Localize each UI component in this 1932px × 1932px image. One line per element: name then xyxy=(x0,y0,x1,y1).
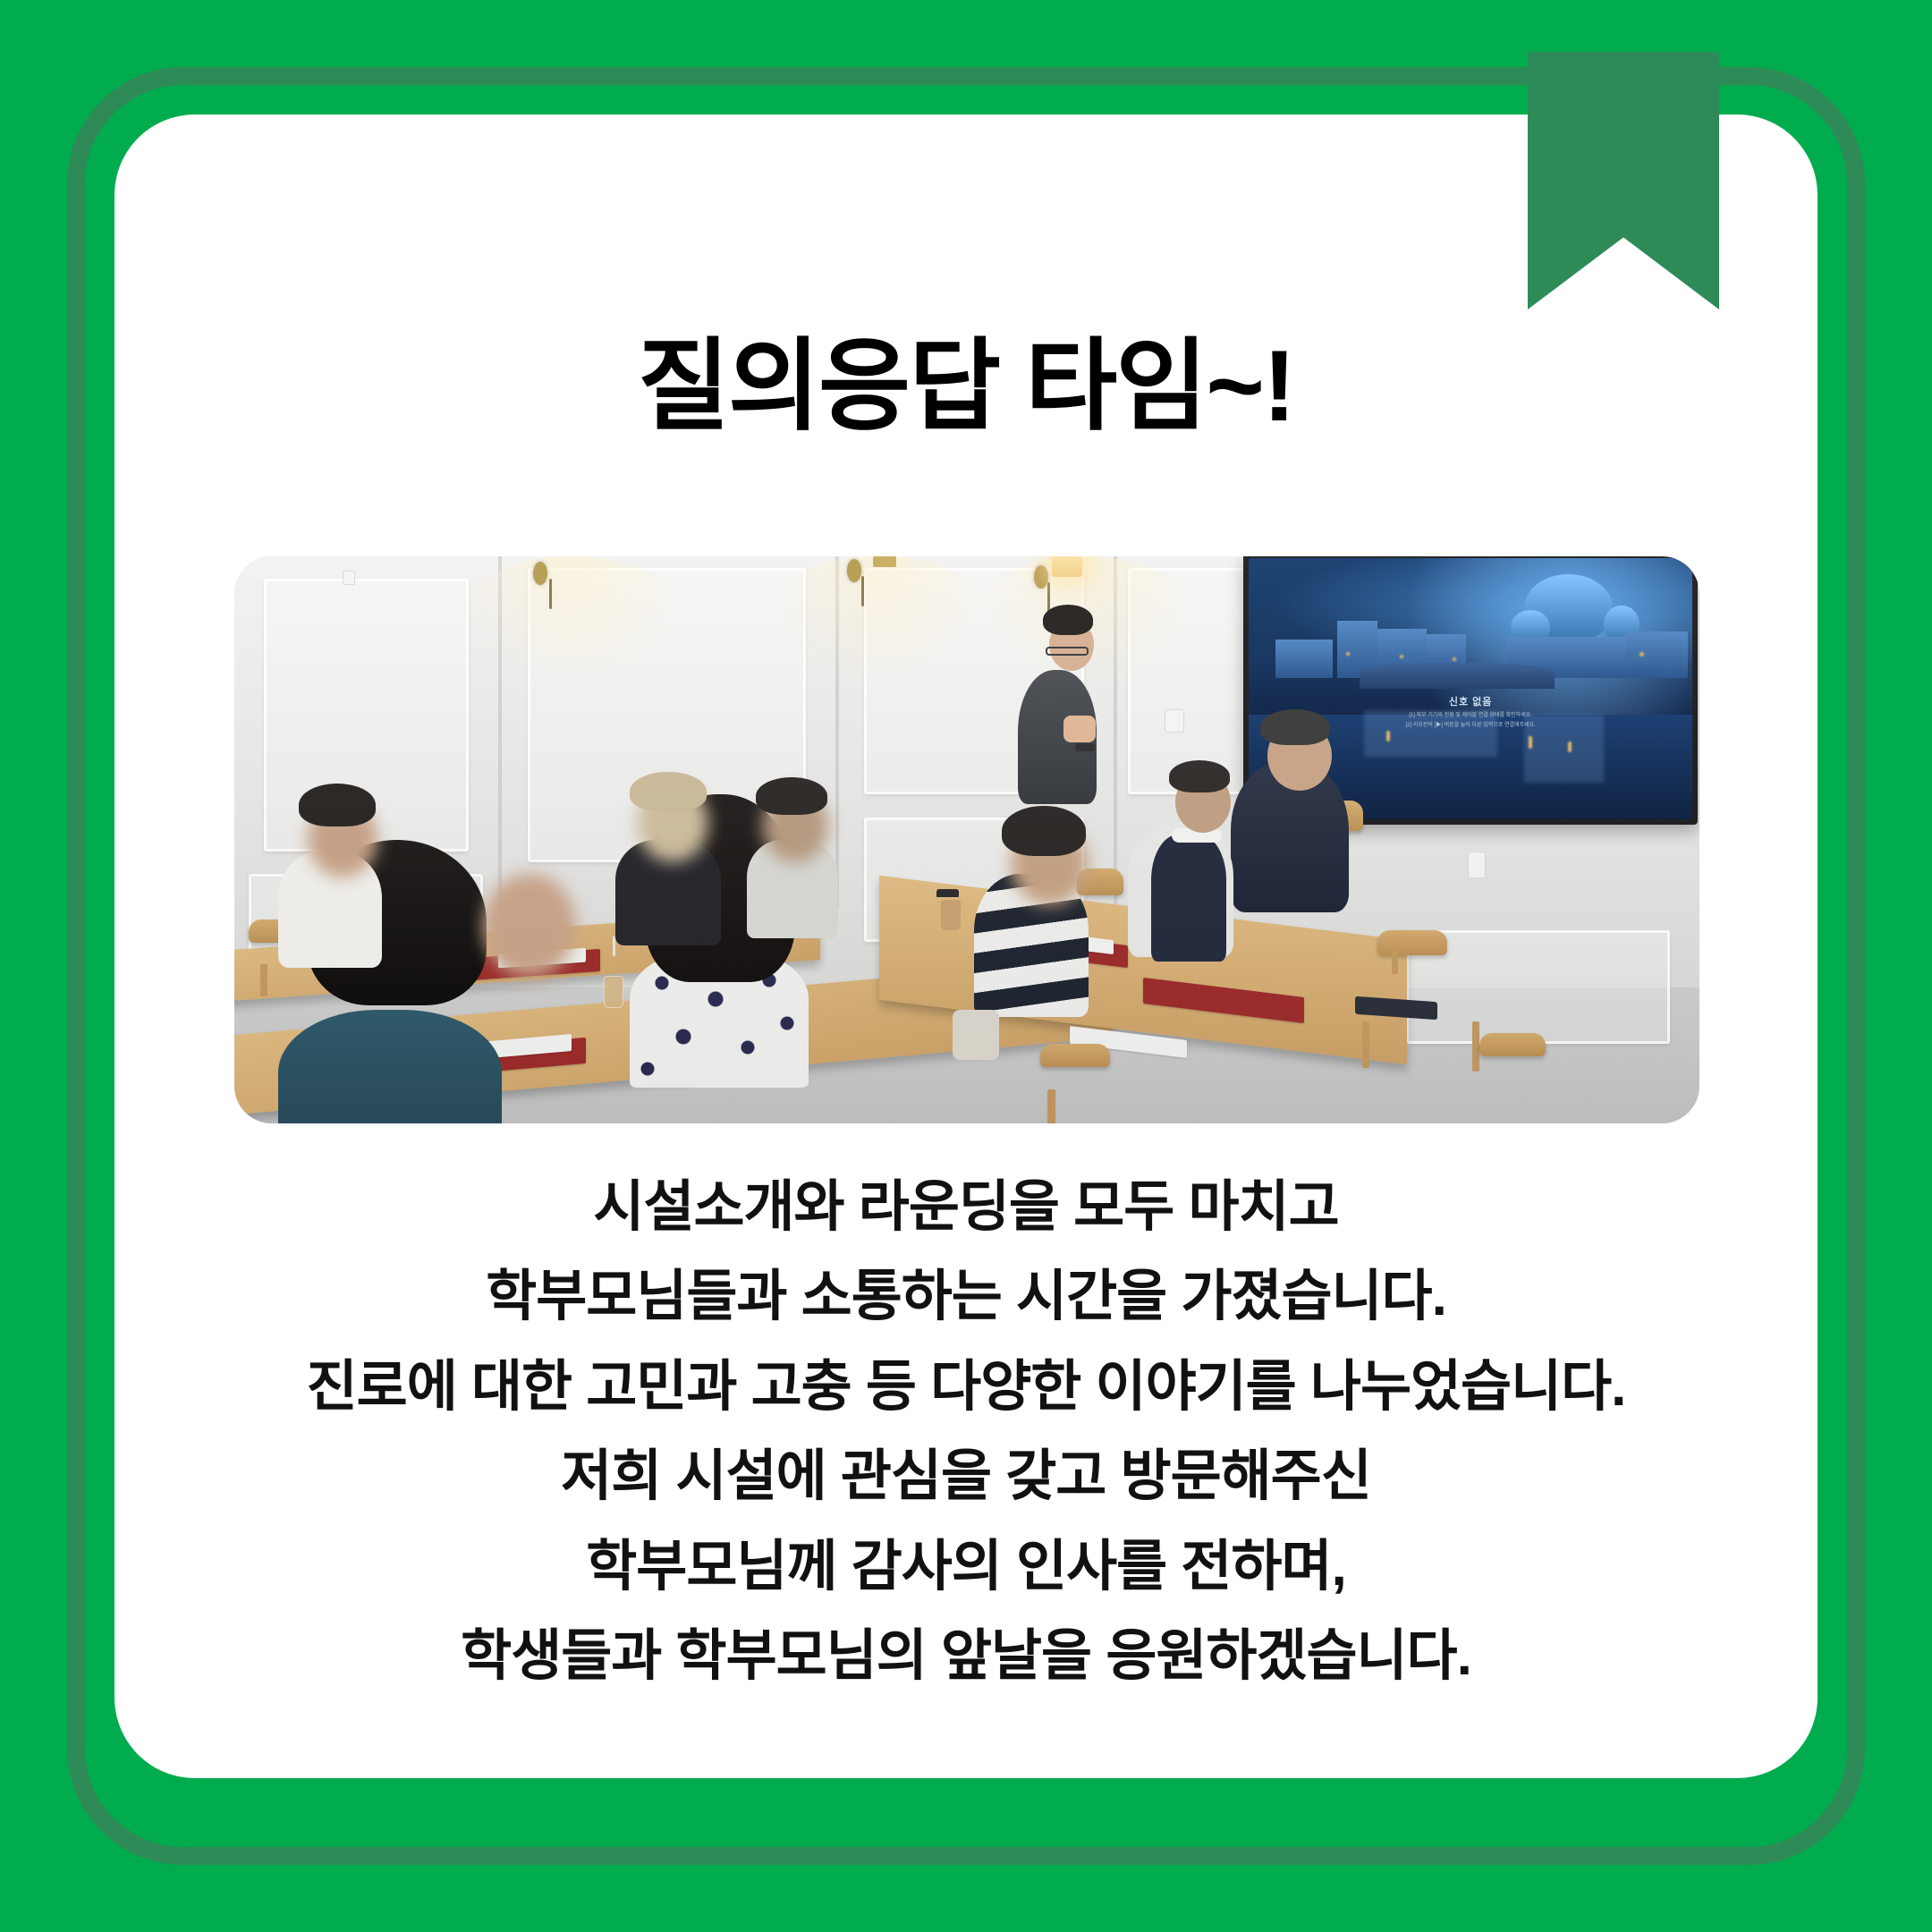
event-photo: 신호 없음 [1] 외부 기기의 전원 및 케이블 연결 상태를 확인하세요. … xyxy=(234,556,1699,1123)
body-line: 학부모님들과 소통하는 시간을 가졌습니다. xyxy=(114,1252,1818,1342)
body-line: 학부모님께 감사의 인사를 전하며, xyxy=(114,1522,1818,1612)
body-line: 학생들과 학부모님의 앞날을 응원하겠습니다. xyxy=(114,1612,1818,1701)
body-line: 저희 시설에 관심을 갖고 방문해주신 xyxy=(114,1432,1818,1521)
body-paragraph: 시설소개와 라운딩을 모두 마치고 학부모님들과 소통하는 시간을 가졌습니다.… xyxy=(114,1163,1818,1702)
body-line: 진로에 대한 고민과 고충 등 다양한 이야기를 나누었습니다. xyxy=(114,1343,1818,1432)
body-line: 시설소개와 라운딩을 모두 마치고 xyxy=(114,1163,1818,1252)
poster-canvas: 질의응답 타임~! xyxy=(0,0,1932,1932)
page-title: 질의응답 타임~! xyxy=(114,331,1818,441)
